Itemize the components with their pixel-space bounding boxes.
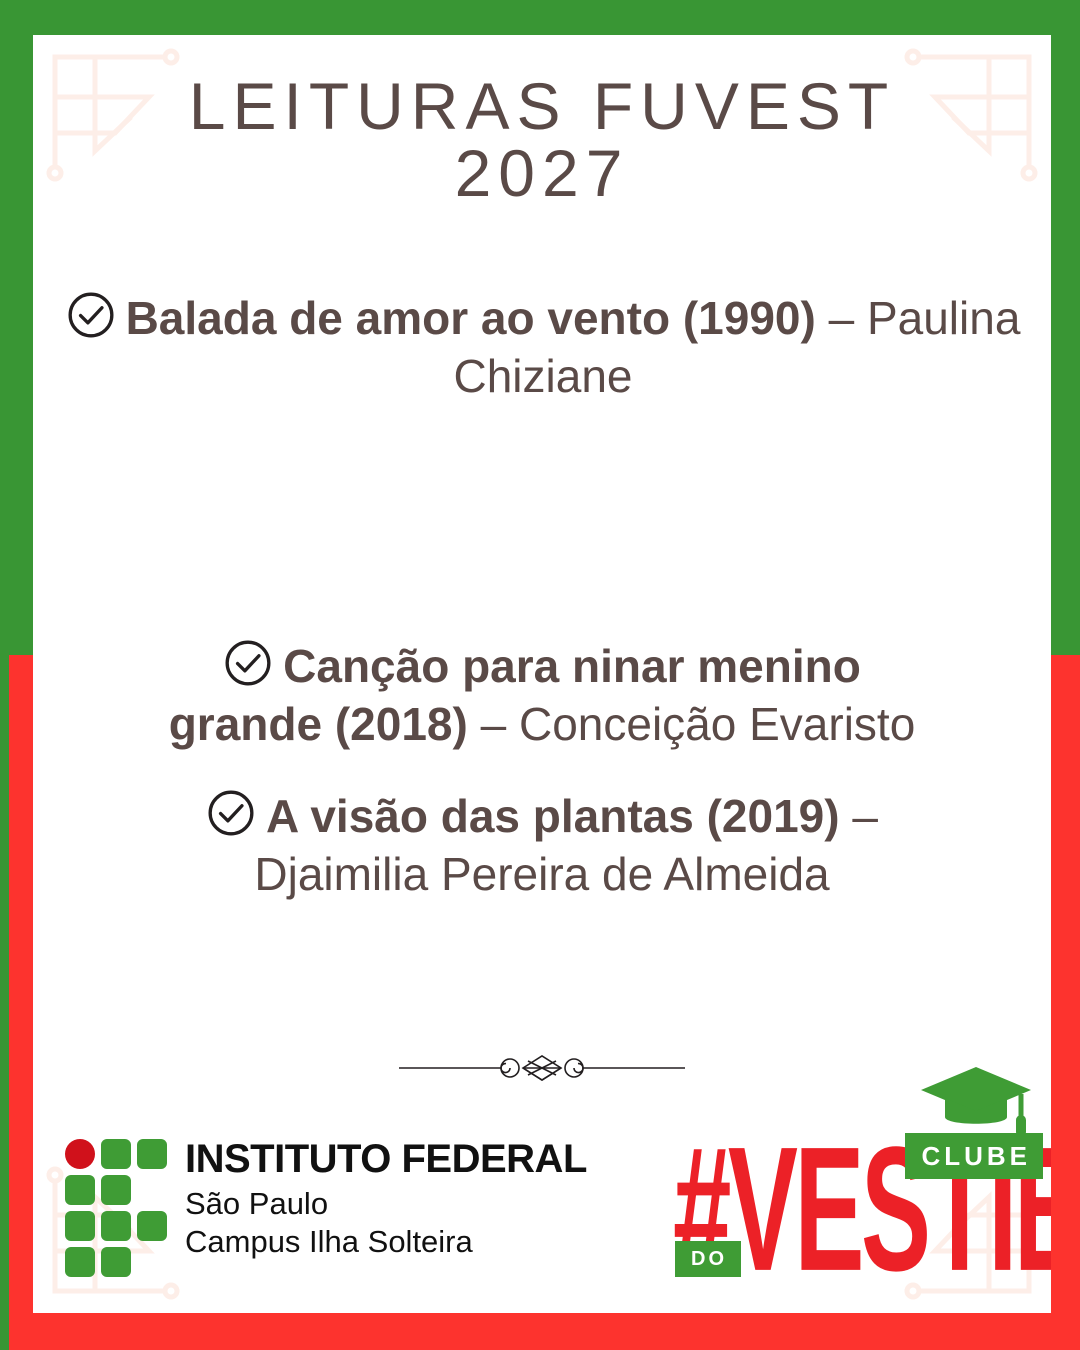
- footer: INSTITUTO FEDERAL São Paulo Campus Ilha …: [33, 1069, 1051, 1299]
- title-line-2: 2027: [33, 140, 1051, 207]
- list-item: Canção para ninar menino grande (2018) –…: [33, 638, 1051, 754]
- ifsp-logo: INSTITUTO FEDERAL São Paulo Campus Ilha …: [65, 1135, 587, 1277]
- book-list: Balada de amor ao vento (1990) – Paulina…: [33, 290, 1051, 904]
- book-author: – Conceição Evaristo: [468, 698, 915, 750]
- ifsp-campus: Campus Ilha Solteira: [185, 1223, 587, 1261]
- graduation-cap-icon: [917, 1065, 1035, 1143]
- check-circle-icon: [206, 788, 256, 838]
- page-title: LEITURAS FUVEST 2027: [33, 73, 1051, 208]
- ifsp-wordmark: INSTITUTO FEDERAL São Paulo Campus Ilha …: [185, 1135, 587, 1261]
- frame-green-edge: [0, 655, 9, 1350]
- title-line-1: LEITURAS FUVEST: [33, 73, 1051, 140]
- book-title: A visão das plantas (2019): [266, 790, 840, 842]
- vestibaclube-logo: #VESTIBA DO CLUBE: [673, 1071, 1043, 1299]
- list-item: Balada de amor ao vento (1990) – Paulina…: [33, 290, 1051, 406]
- check-circle-icon: [66, 290, 116, 340]
- list-item: A visão das plantas (2019) – Djaimilia P…: [33, 788, 1051, 904]
- ifsp-state: São Paulo: [185, 1185, 587, 1223]
- book-title: Balada de amor ao vento (1990): [126, 292, 816, 344]
- poster-card: LEITURAS FUVEST 2027 Balada de amor ao v…: [33, 35, 1051, 1313]
- check-circle-icon: [223, 638, 273, 688]
- ifsp-grid-logo-icon: [65, 1139, 167, 1277]
- ifsp-name: INSTITUTO FEDERAL: [185, 1139, 587, 1179]
- vestiba-do-badge: DO: [675, 1241, 741, 1277]
